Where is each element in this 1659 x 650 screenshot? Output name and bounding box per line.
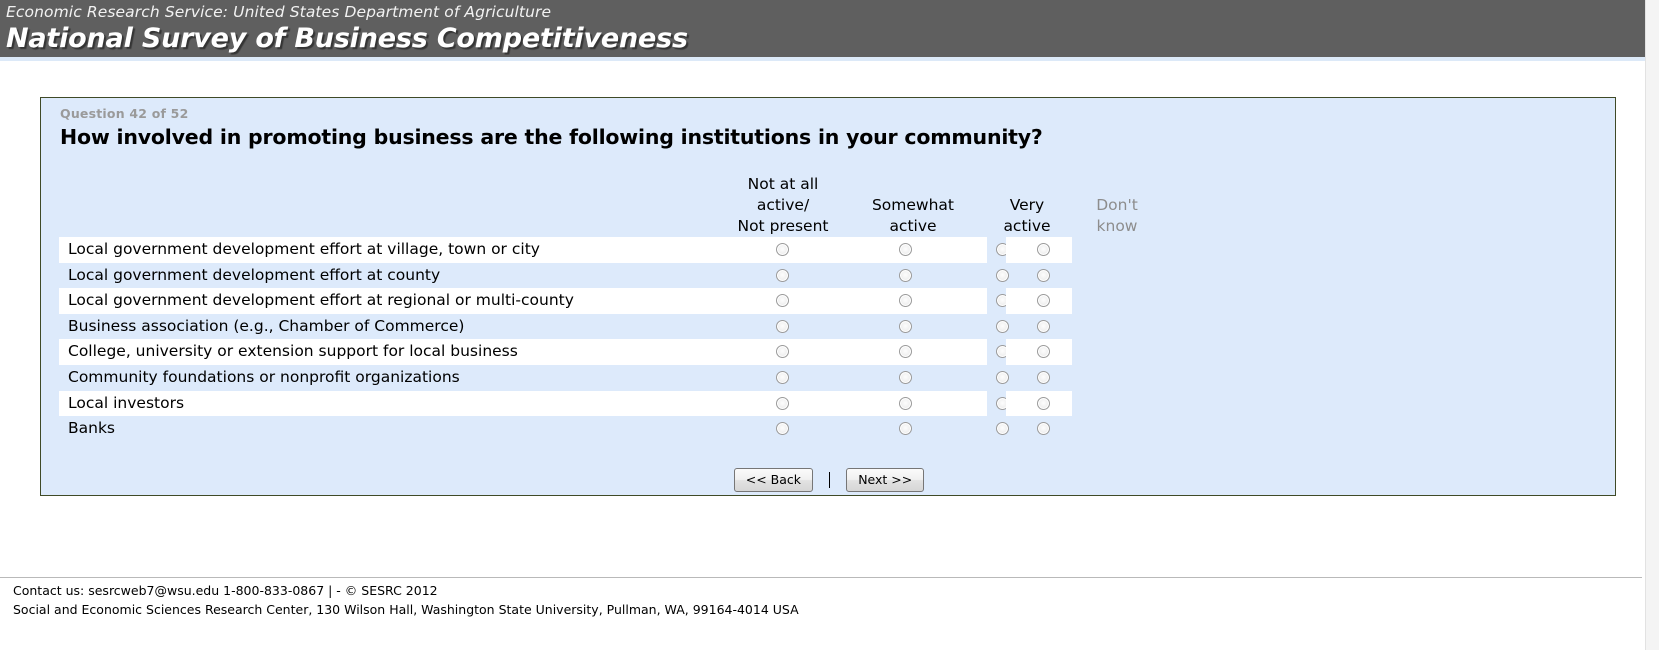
site-title: National Survey of Business Competitiven… <box>6 23 1655 55</box>
matrix-row-dont-know-block <box>1006 237 1072 263</box>
matrix-row-main-block: Local government development effort at v… <box>59 237 987 263</box>
matrix-row-main-block: College, university or extension support… <box>59 339 987 365</box>
radio-row-7-col-3[interactable] <box>1037 422 1050 435</box>
footer-contact-line: Contact us: sesrcweb7@wsu.edu 1-800-833-… <box>13 581 1413 600</box>
radio-row-1-col-3[interactable] <box>1037 269 1050 282</box>
column-header-somewhat-active: Somewhatactive <box>855 195 971 237</box>
footer-divider <box>0 577 1642 578</box>
matrix-column-headers: Not at allactive/Not present Somewhatact… <box>59 170 1599 237</box>
radio-row-3-col-3[interactable] <box>1037 320 1050 333</box>
page-footer: Contact us: sesrcweb7@wsu.edu 1-800-833-… <box>13 581 1413 619</box>
matrix-row: Local government development effort at v… <box>59 237 1599 263</box>
radio-row-4-col-1[interactable] <box>899 345 912 358</box>
question-text: How involved in promoting business are t… <box>60 125 1043 149</box>
matrix-row-label: Local government development effort at r… <box>68 290 574 311</box>
matrix-row: Local government development effort at r… <box>59 288 1599 314</box>
radio-row-2-col-1[interactable] <box>899 294 912 307</box>
matrix-row-dont-know-block <box>1006 391 1072 417</box>
radio-row-0-col-3[interactable] <box>1037 243 1050 256</box>
survey-page: Economic Research Service: United States… <box>0 0 1659 650</box>
question-counter: Question 42 of 52 <box>60 106 188 121</box>
matrix-row: Community foundations or nonprofit organ… <box>59 365 1599 391</box>
radio-row-7-col-1[interactable] <box>899 422 912 435</box>
matrix-row-main-block: Community foundations or nonprofit organ… <box>59 365 987 391</box>
matrix-row-dont-know-block <box>1006 339 1072 365</box>
matrix-row-main-block: Local government development effort at r… <box>59 288 987 314</box>
radio-row-1-col-0[interactable] <box>776 269 789 282</box>
matrix-row-label: Banks <box>68 418 115 439</box>
matrix-row-main-block: Business association (e.g., Chamber of C… <box>59 314 987 340</box>
response-matrix: Not at allactive/Not present Somewhatact… <box>59 170 1599 442</box>
column-header-dont-know: Don'tknow <box>1077 195 1157 237</box>
matrix-row: Local government development effort at c… <box>59 263 1599 289</box>
matrix-row: Business association (e.g., Chamber of C… <box>59 314 1599 340</box>
matrix-row-main-block: Banks <box>59 416 987 442</box>
radio-row-5-col-0[interactable] <box>776 371 789 384</box>
matrix-row: Local investors <box>59 391 1599 417</box>
agency-line: Economic Research Service: United States… <box>6 2 1655 23</box>
radio-row-6-col-3[interactable] <box>1037 397 1050 410</box>
radio-row-2-col-3[interactable] <box>1037 294 1050 307</box>
matrix-row-dont-know-block <box>1006 416 1072 442</box>
page-scrollbar[interactable] <box>1645 0 1659 650</box>
radio-row-1-col-1[interactable] <box>899 269 912 282</box>
matrix-row: Banks <box>59 416 1599 442</box>
matrix-rows: Local government development effort at v… <box>59 237 1599 442</box>
header-accent-bar <box>0 57 1655 61</box>
radio-row-3-col-0[interactable] <box>776 320 789 333</box>
footer-address-line: Social and Economic Sciences Research Ce… <box>13 600 1413 619</box>
radio-row-4-col-3[interactable] <box>1037 345 1050 358</box>
matrix-row-main-block: Local investors <box>59 391 987 417</box>
matrix-row-dont-know-block <box>1006 314 1072 340</box>
matrix-row-label: Local investors <box>68 393 184 414</box>
matrix-row-main-block: Local government development effort at c… <box>59 263 987 289</box>
radio-row-7-col-0[interactable] <box>776 422 789 435</box>
column-header-not-at-all-active: Not at allactive/Not present <box>725 174 841 237</box>
radio-row-6-col-0[interactable] <box>776 397 789 410</box>
radio-row-4-col-0[interactable] <box>776 345 789 358</box>
matrix-row-label: Business association (e.g., Chamber of C… <box>68 316 464 337</box>
matrix-row-dont-know-block <box>1006 263 1072 289</box>
radio-row-0-col-0[interactable] <box>776 243 789 256</box>
radio-row-3-col-1[interactable] <box>899 320 912 333</box>
matrix-row: College, university or extension support… <box>59 339 1599 365</box>
matrix-row-label: College, university or extension support… <box>68 341 518 362</box>
back-button[interactable]: << Back <box>734 468 813 492</box>
matrix-row-dont-know-block <box>1006 288 1072 314</box>
next-button[interactable]: Next >> <box>846 468 924 492</box>
radio-row-2-col-0[interactable] <box>776 294 789 307</box>
radio-row-5-col-1[interactable] <box>899 371 912 384</box>
radio-row-6-col-1[interactable] <box>899 397 912 410</box>
radio-row-0-col-1[interactable] <box>899 243 912 256</box>
matrix-row-label: Local government development effort at v… <box>68 239 540 260</box>
matrix-row-label: Community foundations or nonprofit organ… <box>68 367 460 388</box>
site-header: Economic Research Service: United States… <box>0 0 1655 57</box>
matrix-row-label: Local government development effort at c… <box>68 265 440 286</box>
question-panel: Question 42 of 52 How involved in promot… <box>40 97 1616 496</box>
column-header-very-active: Veryactive <box>987 195 1067 237</box>
radio-row-5-col-3[interactable] <box>1037 371 1050 384</box>
nav-separator <box>829 472 830 488</box>
navigation-bar: << Back Next >> <box>41 468 1617 492</box>
matrix-row-dont-know-block <box>1006 365 1072 391</box>
